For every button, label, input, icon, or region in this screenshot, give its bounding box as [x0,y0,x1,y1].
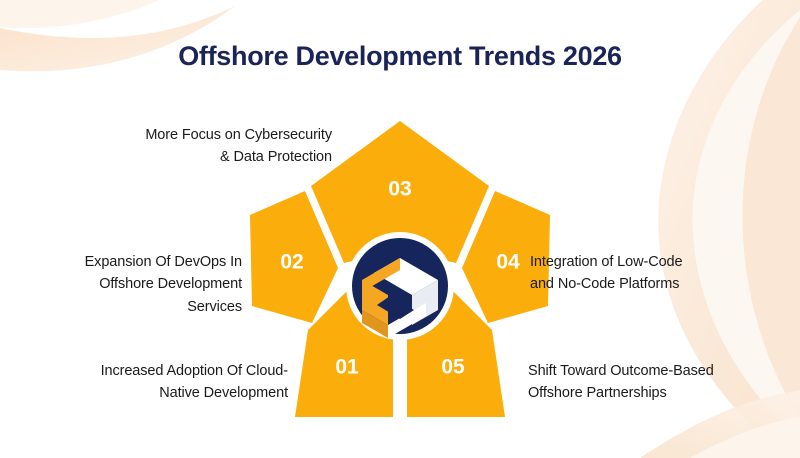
segment-label-04-line1: Integration of Low-Code [530,251,792,273]
segment-label-04-line2: and No-Code Platforms [530,273,792,295]
segment-label-02-line2: Offshore Development [12,273,242,295]
segment-label-03-line1: More Focus on Cybersecurity [22,124,332,146]
segment-number-05: 05 [441,356,465,379]
segment-label-03-line2: & Data Protection [22,146,332,168]
segment-label-02-line1: Expansion Of DevOps In [12,251,242,273]
segment-label-05-line1: Shift Toward Outcome-Based [528,360,796,382]
segment-number-02: 02 [280,251,303,274]
segment-label-03: More Focus on Cybersecurity & Data Prote… [22,124,332,169]
center-logo [346,232,454,340]
page-title: Offshore Development Trends 2026 [0,40,800,72]
segment-label-02: Expansion Of DevOps In Offshore Developm… [12,251,242,318]
segment-number-01: 01 [335,356,359,379]
segment-label-05: Shift Toward Outcome-Based Offshore Part… [528,360,796,405]
infographic-canvas: Offshore Development Trends 2026 03 02 0… [0,0,800,458]
segment-label-04: Integration of Low-Code and No-Code Plat… [530,251,792,296]
segment-label-02-line3: Services [12,296,242,318]
segment-label-05-line2: Offshore Partnerships [528,382,796,404]
segment-label-01-line1: Increased Adoption Of Cloud- [8,360,288,382]
segment-number-03: 03 [388,178,411,201]
segment-number-04: 04 [496,251,520,274]
segment-label-01-line2: Native Development [8,382,288,404]
segment-label-01: Increased Adoption Of Cloud- Native Deve… [8,360,288,405]
